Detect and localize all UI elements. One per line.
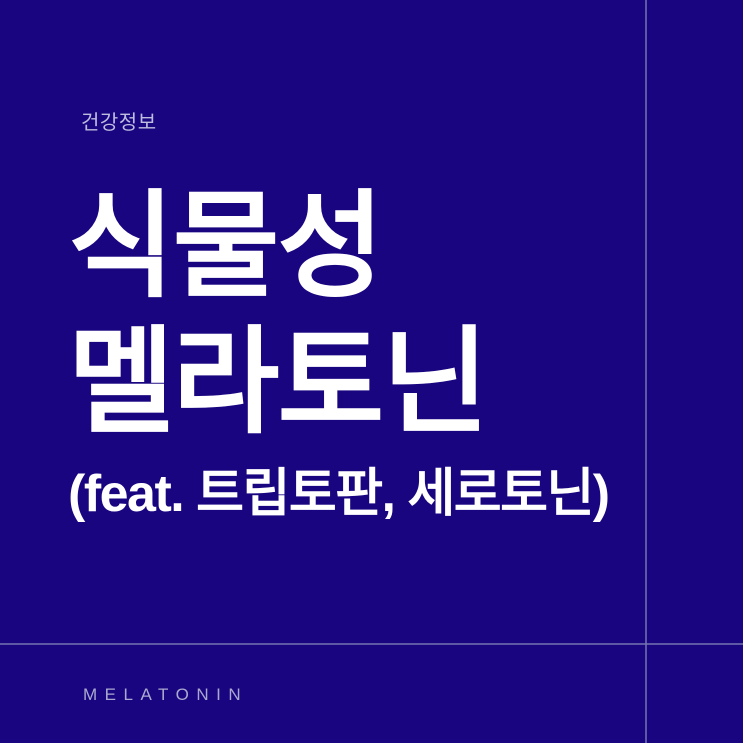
- horizontal-divider-rule: [0, 643, 743, 645]
- subtitle-text: (feat. 트립토판, 세로토닌): [68, 463, 609, 525]
- headline-block: 식물성 멜라토닌: [68, 176, 688, 452]
- footer-wordmark: MELATONIN: [83, 685, 248, 705]
- title-card: 건강정보 식물성 멜라토닌 (feat. 트립토판, 세로토닌) MELATON…: [0, 0, 743, 743]
- headline-line-2: 멜라토닌: [68, 312, 688, 452]
- headline-line-1: 식물성: [68, 176, 688, 316]
- category-eyebrow-label: 건강정보: [81, 106, 157, 135]
